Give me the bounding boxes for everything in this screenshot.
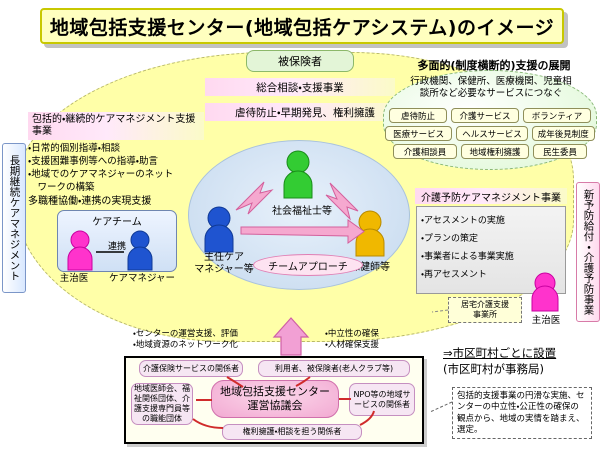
bullet-item: ・再アセスメント [421, 266, 561, 284]
selection-criteria-note: 包括的支援事業の円滑な実施、センターの中立性・公正性の確保の観点から、地域の実情… [452, 387, 592, 439]
municipality-support-bullets-left: ・センターの運営支援、評価 ・地域資源のネットワーク化 [133, 329, 283, 352]
council-center-line2: 運営協議会 [248, 399, 303, 413]
council-member-insurance-services[interactable]: 介護保険サービスの関係者 [139, 360, 243, 377]
insured-person-box: 被保険者 [246, 50, 354, 72]
care-manager-label: ケアマネジャー [100, 270, 184, 284]
home-care-support-office-box: 居宅介護支援 事業所 [448, 297, 522, 323]
bullet-item: ・センターの運営支援、評価 [133, 329, 283, 340]
service-row: 医療サービス ヘルスサービス 成年後見制度 [385, 126, 595, 141]
abuse-prevention-bar: 虐待防止・早期発見、権利擁護 [205, 103, 405, 121]
bullet-item: ・アセスメントの実施 [421, 212, 561, 230]
prevention-care-management-bullets: ・アセスメントの実施 ・プランの策定 ・事業者による事業実施 ・再アセスメント [416, 206, 566, 294]
bullet-item: ・日常的個別指導・相談 [28, 142, 208, 155]
chief-care-manager-line1: 主任ケア [204, 252, 244, 263]
operating-council-center: 地域包括支援センター 運営協議会 [211, 380, 339, 418]
service-row: 虐待防止 介護サービス ボランティア [385, 108, 595, 123]
attending-doctor-label-left: 主治医 [52, 270, 96, 284]
long-term-care-management-tab: 長期継続ケアマネジメント [2, 143, 26, 293]
chief-care-manager-line2: マネジャー等 [194, 264, 254, 275]
bullet-item: ・プランの策定 [421, 230, 561, 248]
council-member-rights-advocacy[interactable]: 権利擁護・相談を担う関係者 [222, 424, 362, 440]
new-prevention-benefit-tab: 新予防給付・介護予防事業 [576, 182, 600, 322]
service-chip-care-service[interactable]: 介護サービス [451, 108, 519, 123]
note-leader-line [430, 402, 452, 412]
service-chip-abuse-prevention[interactable]: 虐待防止 [389, 108, 447, 123]
cooperation-label: 連携 [97, 239, 137, 252]
office-line1: 居宅介護支援 [461, 300, 509, 309]
establishment-line2: (市区町村が事務局) [443, 362, 593, 378]
desc-line1: 行政機関、保健所、医療機関、児童相 [410, 76, 572, 87]
council-center-line1: 地域包括支援センター [220, 385, 330, 399]
service-chip-adult-guardianship[interactable]: 成年後見制度 [532, 126, 595, 141]
office-line2: 事業所 [473, 310, 497, 319]
service-chip-health-service[interactable]: ヘルスサービス [456, 126, 527, 141]
bullet-item: ・地域でのケアマネジャーのネット [28, 168, 208, 181]
multidisciplinary-support-label: 多職種協働・連携の実現支援 [28, 192, 208, 207]
municipality-support-bullets-right: ・中立性の確保 ・人材確保支援 [325, 329, 445, 352]
comprehensive-care-management-bullets: ・日常的個別指導・相談 ・支援困難事例等への指導・助言 ・地域でのケアマネジャー… [28, 142, 208, 194]
comprehensive-care-management-header: 包括的・継続的ケアマネジメント支援事業 [28, 112, 204, 140]
bullet-item: ・地域資源のネットワーク化 [133, 340, 283, 351]
social-worker-label: 社会福祉士等 [247, 202, 357, 217]
page-title: 地域包括支援センター(地域包括ケアシステム)のイメージ [40, 8, 564, 44]
bullet-item: ・中立性の確保 [325, 329, 445, 340]
chief-care-manager-label: 主任ケア マネジャー等 [185, 252, 263, 276]
bullet-item: ・事業者による事業実施 [421, 248, 561, 266]
council-member-users[interactable]: 利用者、被保険者(老人クラブ等) [258, 360, 410, 377]
council-member-npo[interactable]: NPO等の地域サービスの関係者 [349, 383, 415, 416]
care-team-title: ケアチーム [57, 213, 177, 228]
service-chip-grid: 虐待防止 介護サービス ボランティア 医療サービス ヘルスサービス 成年後見制度… [385, 108, 595, 162]
prevention-care-management-header: 介護予防ケアマネジメント事業 [415, 188, 567, 204]
bullet-item: ・人材確保支援 [325, 340, 445, 351]
service-chip-volunteer[interactable]: ボランティア [523, 108, 591, 123]
service-chip-welfare-commissioner[interactable]: 民生委員 [533, 144, 587, 159]
establishment-line1: ⇒市区町村ごとに設置 [443, 346, 593, 362]
service-chip-regional-rights[interactable]: 地域権利擁護 [461, 144, 529, 159]
council-member-medical-association[interactable]: 地域医師会、福祉関係団体、介護支援専門員等の職能団体 [131, 383, 193, 425]
multifaceted-support-title: 多面的(制度横断的)支援の展開 [396, 57, 592, 73]
general-consultation-bar: 総合相談・支援事業 [205, 78, 395, 96]
bullet-item: ・支援困難事例等への指導・助言 [28, 155, 208, 168]
municipality-establishment-note: ⇒市区町村ごとに設置 (市区町村が事務局) [443, 346, 593, 377]
attending-doctor-label-right: 主治医 [520, 312, 572, 326]
multifaceted-support-description: 行政機関、保健所、医療機関、児童相 談所など必要なサービスにつなぐ [392, 76, 590, 101]
service-chip-care-counselor[interactable]: 介護相談員 [393, 144, 457, 159]
service-chip-medical-service[interactable]: 医療サービス [385, 126, 452, 141]
team-approach-badge: チームアプローチ [253, 254, 363, 276]
service-row: 介護相談員 地域権利擁護 民生委員 [385, 144, 595, 159]
desc-line2: 談所など必要なサービスにつなぐ [420, 88, 563, 99]
